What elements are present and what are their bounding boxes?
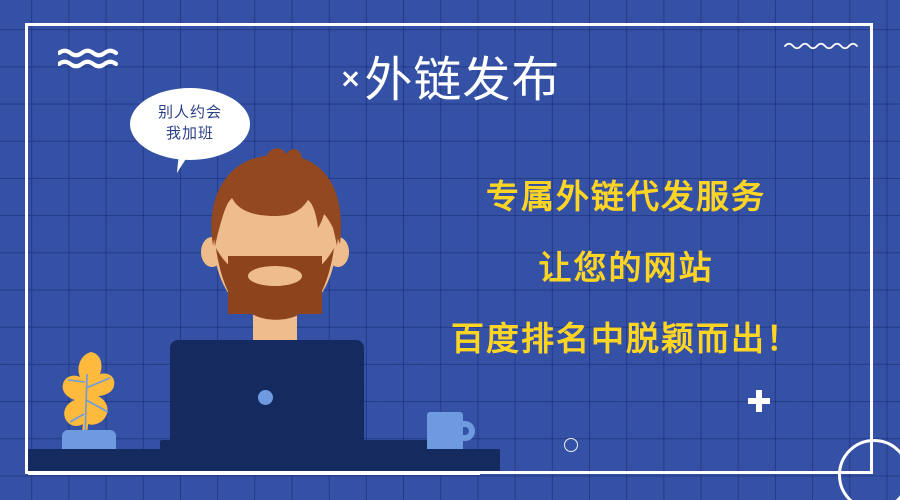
promo-banner: ×外链发布 专属外链代发服务 让您的网站 百度排名中脱颖而出！ — [0, 0, 900, 500]
mug-handle-shape — [456, 421, 475, 441]
desk-surface — [28, 449, 500, 471]
potted-plant-icon — [58, 350, 122, 438]
desk-edge-line — [28, 471, 480, 475]
mouth-shape — [248, 266, 302, 286]
speech-bubble-line-2: 我加班 — [130, 123, 250, 144]
laptop-logo-dot — [258, 390, 273, 405]
speech-bubble: 别人约会 我加班 — [130, 88, 250, 160]
speech-bubble-line-1: 别人约会 — [130, 102, 250, 123]
